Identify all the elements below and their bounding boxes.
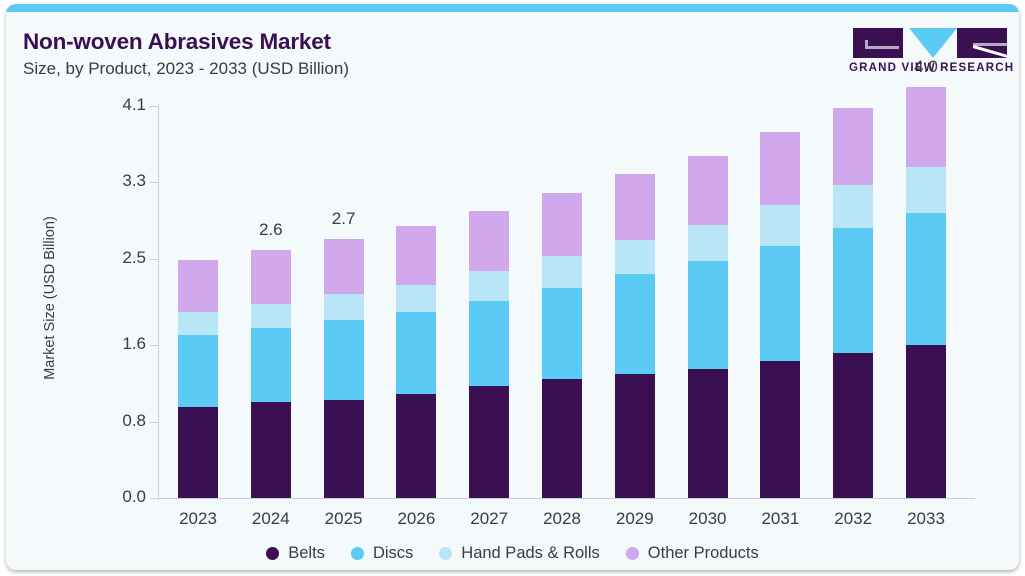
logo-triangle-icon xyxy=(909,28,957,58)
bar-stack[interactable] xyxy=(906,87,946,498)
y-axis-tick-mark xyxy=(150,106,158,107)
bar-segment[interactable] xyxy=(833,108,873,185)
bar-segment[interactable] xyxy=(178,407,218,498)
x-axis-line xyxy=(158,498,975,499)
bar-segment[interactable] xyxy=(396,312,436,394)
legend-item[interactable]: Belts xyxy=(266,544,325,563)
bar-segment[interactable] xyxy=(833,228,873,352)
legend-item[interactable]: Discs xyxy=(351,544,413,563)
bar-stack[interactable] xyxy=(469,211,509,498)
bar-segment[interactable] xyxy=(688,156,728,225)
bar-segment[interactable] xyxy=(688,225,728,261)
x-axis-tick-label: 2025 xyxy=(304,509,384,529)
x-axis-tick-label: 2026 xyxy=(376,509,456,529)
logo-marks xyxy=(849,28,1011,58)
bar-segment[interactable] xyxy=(906,87,946,167)
logo-r-leg-stroke xyxy=(973,45,1007,58)
y-axis-tick-mark xyxy=(150,182,158,183)
bar-segment[interactable] xyxy=(760,205,800,245)
plot-area: 2.62.74.0 xyxy=(158,106,975,498)
bar-segment[interactable] xyxy=(615,240,655,274)
bar-segment[interactable] xyxy=(469,211,509,271)
legend-swatch-icon xyxy=(266,547,279,560)
bar-segment[interactable] xyxy=(615,274,655,373)
logo-r-block-icon xyxy=(957,28,1007,58)
y-axis-tick-label: 4.1 xyxy=(46,95,146,115)
bar-total-label: 4.0 xyxy=(886,57,966,77)
bar-segment[interactable] xyxy=(833,353,873,498)
logo-g-horizontal-stroke xyxy=(865,46,899,49)
bar-stack[interactable] xyxy=(251,250,291,498)
bar-segment[interactable] xyxy=(251,250,291,304)
bar-segment[interactable] xyxy=(760,246,800,362)
bar-segment[interactable] xyxy=(615,174,655,240)
bar-stack[interactable] xyxy=(615,174,655,498)
bar-stack[interactable] xyxy=(178,260,218,498)
bar-segment[interactable] xyxy=(396,285,436,312)
x-axis-tick-label: 2028 xyxy=(522,509,602,529)
bar-segment[interactable] xyxy=(688,261,728,369)
bar-segment[interactable] xyxy=(178,335,218,408)
bar-segment[interactable] xyxy=(396,226,436,284)
legend-item[interactable]: Other Products xyxy=(626,544,759,563)
chart-legend: BeltsDiscsHand Pads & RollsOther Product… xyxy=(6,538,1019,568)
legend-item[interactable]: Hand Pads & Rolls xyxy=(439,544,600,563)
legend-swatch-icon xyxy=(439,547,452,560)
bar-total-label: 2.7 xyxy=(304,209,384,229)
y-axis-tick-mark xyxy=(150,345,158,346)
bar-segment[interactable] xyxy=(324,320,364,399)
chart-card: Non-woven Abrasives Market Size, by Prod… xyxy=(6,4,1019,570)
legend-label: Belts xyxy=(288,544,325,563)
bar-stack[interactable] xyxy=(688,156,728,498)
bar-segment[interactable] xyxy=(688,369,728,498)
bar-segment[interactable] xyxy=(396,394,436,498)
legend-swatch-icon xyxy=(626,547,639,560)
bar-segment[interactable] xyxy=(542,379,582,498)
y-axis-tick-label: 0.0 xyxy=(46,487,146,507)
bar-segment[interactable] xyxy=(469,301,509,386)
x-axis-tick-label: 2029 xyxy=(595,509,675,529)
bar-segment[interactable] xyxy=(760,361,800,498)
bar-segment[interactable] xyxy=(469,386,509,498)
legend-label: Hand Pads & Rolls xyxy=(461,544,600,563)
bar-stack[interactable] xyxy=(542,193,582,498)
x-axis-tick-label: 2032 xyxy=(813,509,893,529)
bar-segment[interactable] xyxy=(542,288,582,380)
bar-segment[interactable] xyxy=(178,260,218,312)
bar-segment[interactable] xyxy=(324,400,364,498)
x-axis-tick-label: 2031 xyxy=(740,509,820,529)
y-axis-tick-label: 0.8 xyxy=(46,411,146,431)
legend-label: Discs xyxy=(373,544,413,563)
y-axis-tick-mark xyxy=(150,422,158,423)
y-axis-tick-label: 3.3 xyxy=(46,171,146,191)
bar-segment[interactable] xyxy=(542,256,582,288)
bar-segment[interactable] xyxy=(178,312,218,335)
x-axis-tick-label: 2024 xyxy=(231,509,311,529)
bar-total-label: 2.6 xyxy=(231,220,311,240)
logo-g-vertical-stroke xyxy=(865,40,868,49)
legend-swatch-icon xyxy=(351,547,364,560)
bar-segment[interactable] xyxy=(906,213,946,345)
bar-segment[interactable] xyxy=(760,132,800,206)
bar-segment[interactable] xyxy=(251,304,291,328)
x-axis-tick-label: 2033 xyxy=(886,509,966,529)
bar-segment[interactable] xyxy=(324,294,364,320)
y-axis-tick-mark xyxy=(150,259,158,260)
x-axis-tick-label: 2023 xyxy=(158,509,238,529)
bar-segment[interactable] xyxy=(324,239,364,294)
bar-segment[interactable] xyxy=(469,271,509,301)
x-axis-tick-label: 2027 xyxy=(449,509,529,529)
top-accent-bar xyxy=(6,4,1019,12)
bar-stack[interactable] xyxy=(324,239,364,498)
y-axis-tick-label: 1.6 xyxy=(46,334,146,354)
chart-header: Non-woven Abrasives Market Size, by Prod… xyxy=(6,12,1019,84)
bar-segment[interactable] xyxy=(542,193,582,256)
bar-segment[interactable] xyxy=(251,328,291,403)
y-axis-tick-mark xyxy=(150,498,158,499)
bar-stack[interactable] xyxy=(833,108,873,498)
x-axis-tick-label: 2030 xyxy=(668,509,748,529)
legend-label: Other Products xyxy=(648,544,759,563)
y-axis-title: Market Size (USD Billion) xyxy=(42,168,58,428)
bar-segment[interactable] xyxy=(906,345,946,498)
bar-stack[interactable] xyxy=(396,226,436,498)
bar-segment[interactable] xyxy=(833,185,873,228)
bar-segment[interactable] xyxy=(615,374,655,498)
bar-stack[interactable] xyxy=(760,132,800,498)
bar-segment[interactable] xyxy=(251,402,291,498)
y-axis-tick-label: 2.5 xyxy=(46,248,146,268)
logo-g-block-icon xyxy=(853,28,903,58)
bar-segment[interactable] xyxy=(906,167,946,213)
